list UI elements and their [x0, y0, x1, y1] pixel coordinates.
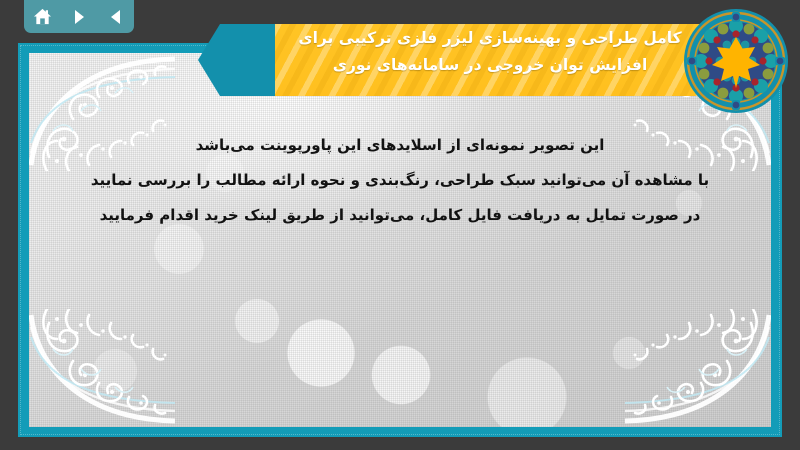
previous-slide-button[interactable] — [103, 4, 129, 30]
page-title: کامل طراحی و بهینه‌سازی لیزر فلزی ترکیبی… — [275, 0, 705, 104]
banner-arrow-tab — [198, 24, 278, 96]
triangle-left-icon — [107, 8, 125, 26]
body-line: این تصویر نمونه‌ای از اسلایدهای این پاور… — [29, 128, 771, 163]
home-icon — [33, 7, 52, 26]
triangle-right-icon — [70, 8, 88, 26]
body-line: با مشاهده آن می‌توانید سبک طراحی، رنگ‌بن… — [29, 163, 771, 198]
slide-body-text: این تصویر نمونه‌ای از اسلایدهای این پاور… — [29, 128, 771, 233]
next-slide-button[interactable] — [66, 4, 92, 30]
body-line: در صورت تمایل به دریافت فایل کامل، می‌تو… — [29, 198, 771, 233]
home-slide-button[interactable] — [29, 4, 55, 30]
panel-halftone-texture — [29, 53, 771, 427]
islamic-medallion-icon — [683, 8, 789, 114]
slide-navigation-bar — [24, 0, 134, 33]
slide-viewer: کامل طراحی و بهینه‌سازی لیزر فلزی ترکیبی… — [0, 0, 800, 450]
slide-content-panel — [29, 53, 771, 427]
